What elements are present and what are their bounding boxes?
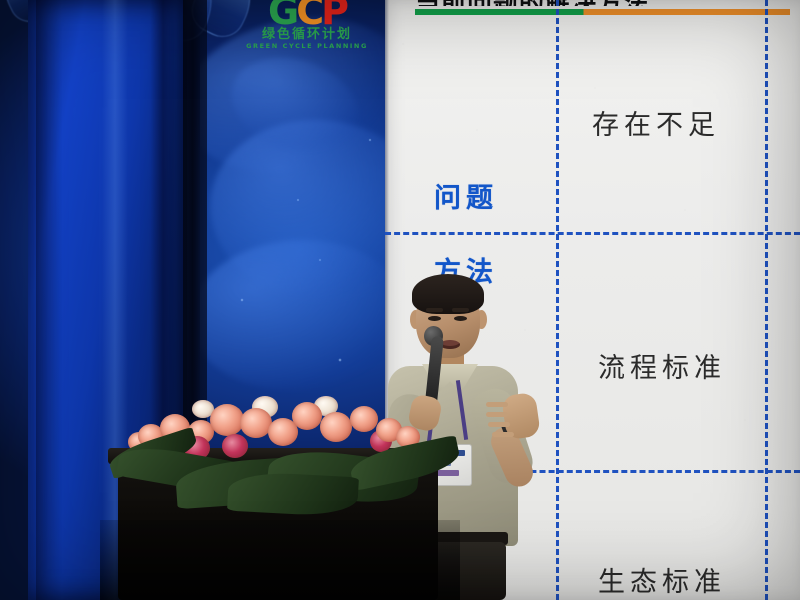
slide-cell-liuchengbiaozhun: 流程标准 — [598, 346, 726, 385]
rose-flower — [350, 406, 378, 432]
gcp-logo: GCP 绿色循环计划 GREEN CYCLE PLANNING — [246, 0, 368, 38]
conference-photo: 来八达国际 抢财富先机 GCP 绿色循环计划 GREEN CYCLE PLANN… — [0, 0, 800, 600]
speaker-eye — [454, 316, 467, 321]
speaker-finger — [492, 432, 514, 437]
rose-flower — [292, 402, 322, 430]
logo-english-text: GREEN CYCLE PLANNING — [246, 42, 368, 51]
slide-title-underline-bar — [415, 9, 790, 15]
speaker-finger — [486, 402, 508, 407]
slide-cell-cunzaibuzu: 存在不足 — [592, 103, 720, 142]
slide-label-wenti: 问题 — [434, 176, 498, 215]
slide-title: 当前问题的解决方法 — [415, 0, 790, 6]
speaker-eyebrow — [426, 308, 443, 312]
grid-vline-2 — [765, 0, 768, 600]
grid-vline-1 — [556, 0, 559, 600]
slide-cell-shengtaibiaozhun: 生态标准 — [598, 560, 726, 599]
speaker-eye — [428, 316, 441, 321]
podium-shadow — [100, 520, 460, 600]
palm-leaf — [227, 471, 359, 518]
speaker-hair — [412, 274, 484, 314]
grid-hline-1 — [385, 232, 800, 235]
speaker-eyebrow — [452, 308, 469, 312]
logo-mark: GCP — [246, 0, 368, 28]
speaker-finger — [486, 412, 508, 417]
logo-chinese-text: 绿色循环计划 — [246, 28, 368, 42]
speaker-finger — [488, 422, 510, 427]
